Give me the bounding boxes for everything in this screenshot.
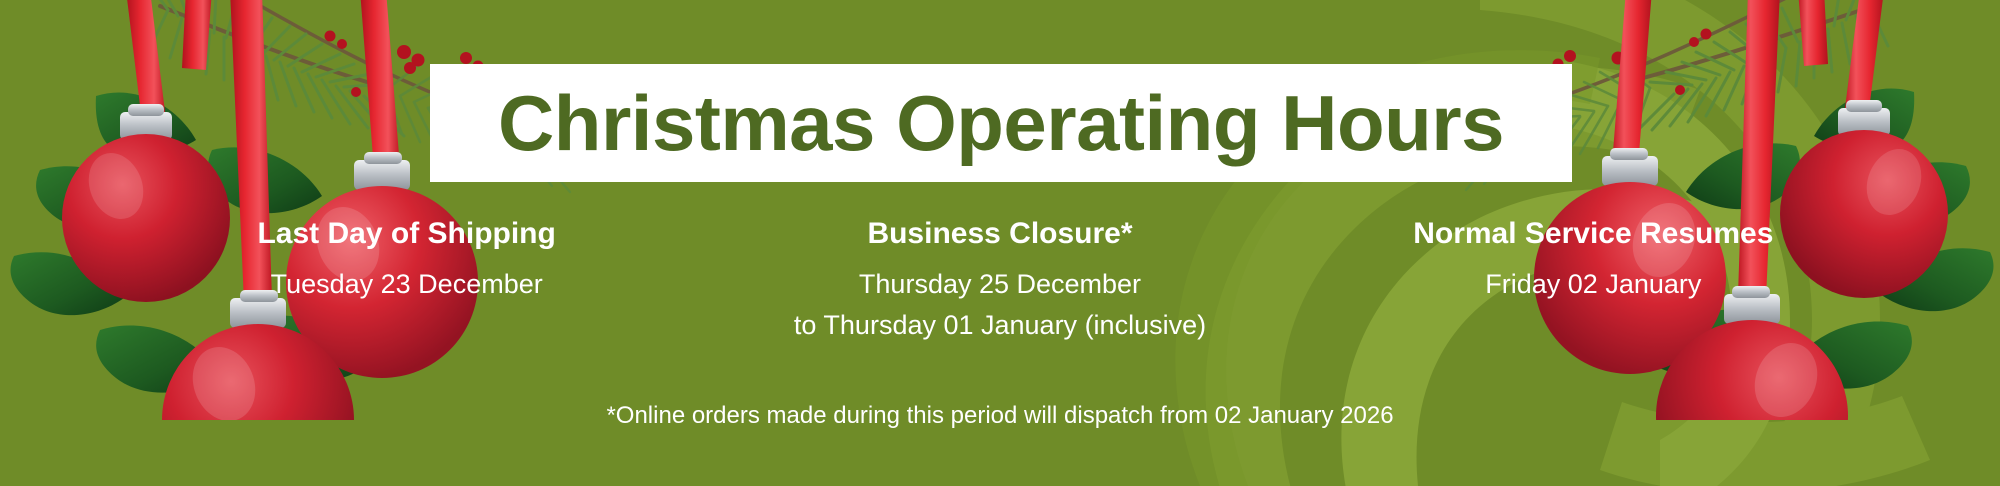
column-heading: Normal Service Resumes — [1297, 215, 1890, 253]
christmas-operating-hours-banner: Christmas Operating Hours Last Day of Sh… — [0, 0, 2000, 486]
column-last-day-of-shipping: Last Day of Shipping Tuesday 23 December — [110, 215, 703, 304]
column-line: Thursday 25 December — [703, 265, 1296, 304]
title-panel: Christmas Operating Hours — [430, 64, 1572, 182]
column-business-closure: Business Closure* Thursday 25 December t… — [703, 215, 1296, 345]
column-line: Friday 02 January — [1297, 265, 1890, 304]
column-heading: Business Closure* — [703, 215, 1296, 253]
page-title: Christmas Operating Hours — [498, 84, 1504, 162]
column-line: Tuesday 23 December — [110, 265, 703, 304]
column-normal-service-resumes: Normal Service Resumes Friday 02 January — [1297, 215, 1890, 304]
column-line: to Thursday 01 January (inclusive) — [703, 306, 1296, 345]
schedule-columns: Last Day of Shipping Tuesday 23 December… — [110, 215, 1890, 345]
banner-content: Christmas Operating Hours Last Day of Sh… — [0, 0, 2000, 486]
column-heading: Last Day of Shipping — [110, 215, 703, 253]
footnote: *Online orders made during this period w… — [0, 400, 2000, 431]
